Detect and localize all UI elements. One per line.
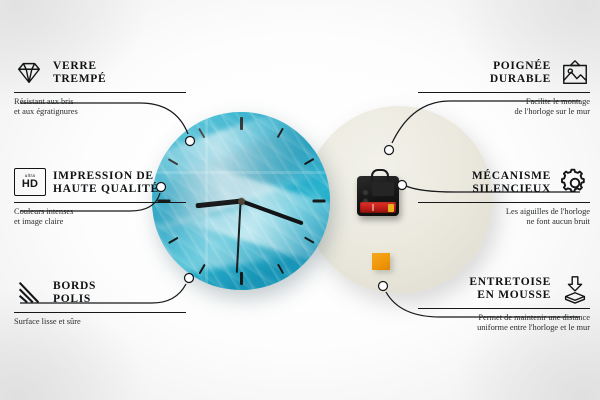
feature-divider	[418, 92, 590, 93]
diamond-icon	[14, 58, 44, 88]
mechanism-plate	[372, 182, 394, 196]
feature-header: ENTRETOISE EN MOUSSE	[418, 274, 590, 304]
mechanism-dial	[362, 189, 369, 196]
polished-edges-icon	[14, 278, 44, 308]
mechanism-hanger-loop	[371, 169, 389, 181]
feature-title: BORDS POLIS	[53, 280, 96, 307]
feature-mecanisme-silencieux[interactable]: MÉCANISME SILENCIEUX Les aiguilles de l'…	[418, 168, 590, 227]
feature-description: Facilite le montage de l'horloge sur le …	[418, 97, 590, 117]
feature-bords-polis[interactable]: BORDS POLIS Surface lisse et sûre	[14, 278, 186, 327]
feature-description: Les aiguilles de l'horloge ne font aucun…	[418, 207, 590, 227]
clock-tick	[240, 272, 243, 285]
feature-poignee-durable[interactable]: POIGNÉE DURABLE Facilite le montage de l…	[418, 58, 590, 117]
clock-tick	[312, 200, 325, 203]
feature-impression-haute-qualite[interactable]: ultra HD IMPRESSION DE HAUTE QUALITÉ Cou…	[14, 168, 186, 227]
feature-header: POIGNÉE DURABLE	[418, 58, 590, 88]
feature-description: Couleurs intenses et image claire	[14, 207, 186, 227]
foam-spacer-part	[372, 253, 390, 270]
feature-verre-trempe[interactable]: VERRE TREMPÉ Résistant aux bris et aux é…	[14, 58, 186, 117]
feature-divider	[14, 202, 186, 203]
infographic-canvas: VERRE TREMPÉ Résistant aux bris et aux é…	[0, 0, 600, 400]
hd-badge-big-text: HD	[22, 179, 38, 190]
battery-terminal	[388, 204, 394, 212]
feature-header: ultra HD IMPRESSION DE HAUTE QUALITÉ	[14, 168, 186, 198]
feature-title: VERRE TREMPÉ	[53, 60, 106, 87]
feature-divider	[14, 92, 186, 93]
feature-title: POIGNÉE DURABLE	[490, 60, 551, 87]
clock-tick	[240, 117, 243, 130]
feature-header: MÉCANISME SILENCIEUX	[418, 168, 590, 198]
feature-entretoise-en-mousse[interactable]: ENTRETOISE EN MOUSSE Permet de maintenir…	[418, 274, 590, 333]
ultra-hd-badge-icon: ultra HD	[14, 168, 44, 198]
feature-divider	[418, 308, 590, 309]
clock-hand-cap	[238, 198, 245, 205]
foam-spacer-icon	[560, 274, 590, 304]
feature-description: Surface lisse et sûre	[14, 317, 186, 327]
feature-divider	[14, 312, 186, 313]
feature-title: MÉCANISME SILENCIEUX	[472, 170, 551, 197]
feature-header: BORDS POLIS	[14, 278, 186, 308]
feature-description: Permet de maintenir une distance uniform…	[418, 313, 590, 333]
battery-band	[372, 204, 374, 211]
clock-mechanism	[357, 176, 399, 216]
feature-title: ENTRETOISE EN MOUSSE	[469, 276, 551, 303]
feature-header: VERRE TREMPÉ	[14, 58, 186, 88]
wall-hanger-icon	[560, 58, 590, 88]
gear-icon	[560, 168, 590, 198]
feature-title: IMPRESSION DE HAUTE QUALITÉ	[53, 170, 159, 197]
feature-description: Résistant aux bris et aux égratignures	[14, 97, 186, 117]
battery	[360, 202, 396, 213]
feature-divider	[418, 202, 590, 203]
